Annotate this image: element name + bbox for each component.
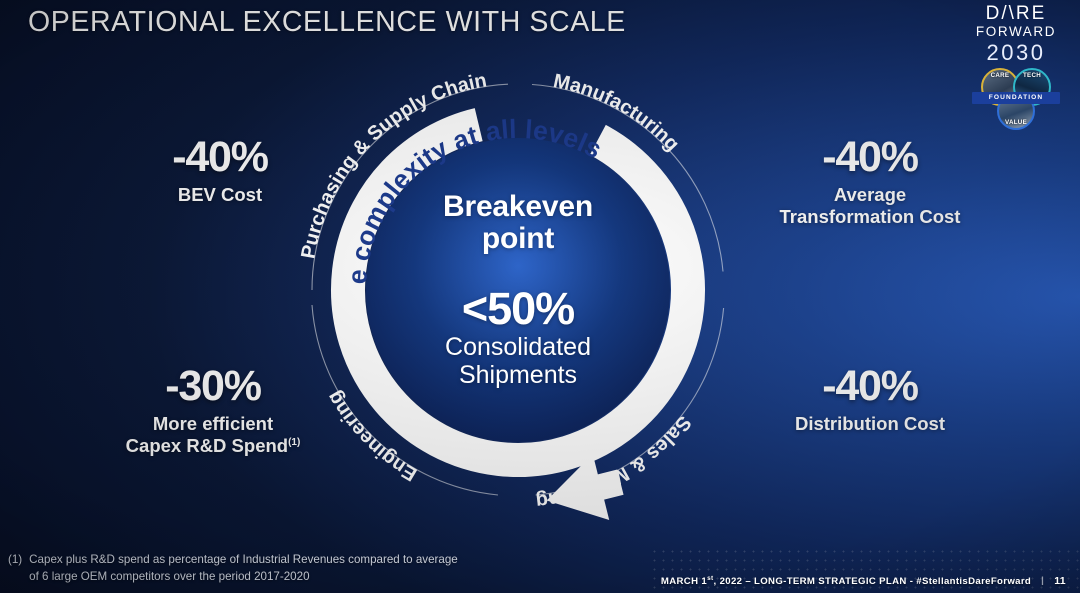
logo-year-text: 2030 (964, 41, 1068, 64)
breakeven-cycle-diagram: Reduce complexity at all levels Purchasi… (283, 55, 753, 525)
footer-deck-info: MARCH 1st, 2022 – LONG-TERM STRATEGIC PL… (661, 575, 1031, 587)
stat-distribution-cost-label: Distribution Cost (755, 413, 985, 435)
center-subtext: Consolidated Shipments (388, 333, 648, 389)
stat-capex-rd-spend: -30% More efficient Capex R&D Spend(1) (98, 365, 328, 457)
footnote-mark: (1) (8, 552, 22, 585)
logo-forward-text: FORWARD (964, 24, 1068, 41)
stat-average-transformation-cost-label: Average Transformation Cost (755, 184, 985, 228)
logo-badge-group: CARE TECH VALUE FOUNDATION (964, 68, 1068, 132)
footnote: (1) Capex plus R&D spend as percentage o… (8, 552, 459, 585)
page-title: OPERATIONAL EXCELLENCE WITH SCALE (28, 6, 626, 39)
stat-avg-label-line1: Average (755, 184, 985, 206)
page-number: 11 (1054, 575, 1066, 587)
stat-bev-cost: -40% BEV Cost (105, 136, 335, 206)
center-heading: Breakeven point (388, 191, 648, 256)
stat-bev-cost-label: BEV Cost (105, 184, 335, 206)
footer-date-rest: , 2022 – LONG-TERM STRATEGIC PLAN - #Ste… (714, 576, 1032, 587)
center-subtext-line1: Consolidated (388, 333, 648, 361)
footer-separator: | (1041, 575, 1044, 586)
badge-value-label: VALUE (1005, 119, 1027, 128)
slide-footer: MARCH 1st, 2022 – LONG-TERM STRATEGIC PL… (661, 575, 1066, 587)
stat-capex-label-line1: More efficient (98, 413, 328, 435)
stat-capex-rd-spend-label: More efficient Capex R&D Spend(1) (98, 413, 328, 457)
stat-capex-label-line2-text: Capex R&D Spend (126, 435, 288, 456)
foundation-banner: FOUNDATION (972, 92, 1060, 104)
center-subtext-line2: Shipments (388, 361, 648, 389)
stat-avg-label-line2: Transformation Cost (755, 206, 985, 228)
center-content: Breakeven point <50% Consolidated Shipme… (388, 191, 648, 389)
stat-bev-cost-value: -40% (105, 136, 335, 179)
stat-capex-rd-spend-value: -30% (98, 365, 328, 408)
center-heading-line2: point (388, 224, 648, 256)
slide-canvas: OPERATIONAL EXCELLENCE WITH SCALE D/\RE … (0, 0, 1080, 593)
stat-average-transformation-cost-value: -40% (755, 136, 985, 179)
badge-tech-label: TECH (1023, 72, 1041, 79)
footer-date-prefix: MARCH 1 (661, 576, 707, 587)
stat-capex-label-line2: Capex R&D Spend(1) (98, 435, 328, 457)
center-value: <50% (388, 286, 648, 331)
dare-forward-2030-logo: D/\RE FORWARD 2030 CARE TECH VALUE FOUND… (964, 4, 1068, 132)
stat-capex-footnote-mark: (1) (288, 437, 300, 448)
stat-distribution-cost-value: -40% (755, 365, 985, 408)
center-heading-line1: Breakeven (388, 191, 648, 223)
stat-average-transformation-cost: -40% Average Transformation Cost (755, 136, 985, 228)
badge-care-label: CARE (991, 72, 1010, 79)
footnote-text: Capex plus R&D spend as percentage of In… (29, 552, 459, 585)
logo-dare-text: D/\RE (964, 4, 1068, 23)
stat-distribution-cost: -40% Distribution Cost (755, 365, 985, 435)
